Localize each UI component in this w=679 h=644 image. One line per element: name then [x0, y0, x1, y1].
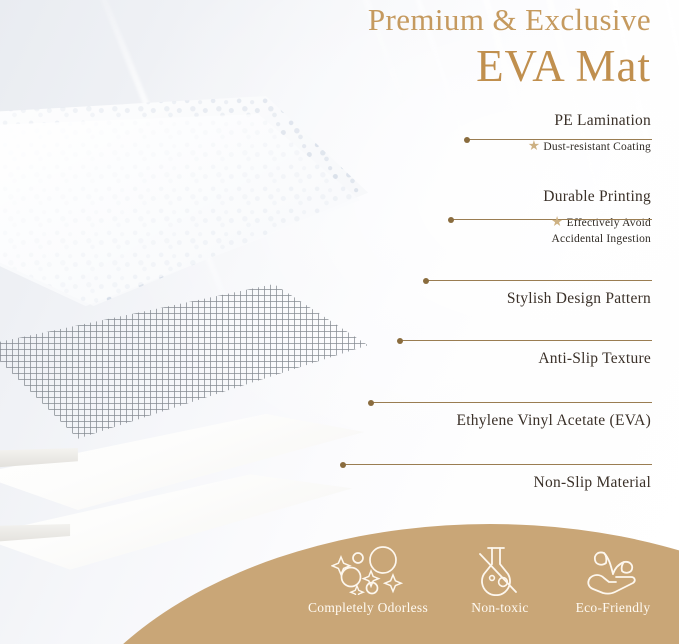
feature-connector-line — [370, 402, 652, 403]
feature-connector-dot — [423, 278, 429, 284]
feature-connector-line — [342, 464, 652, 465]
feature-row: Anti-Slip Texture — [0, 322, 679, 384]
feature-connector-line — [399, 340, 652, 341]
benefit-caption: Eco-Friendly — [546, 600, 679, 616]
benefit-caption: Completely Odorless — [288, 600, 448, 616]
hand-sprout-icon — [546, 544, 679, 596]
feature-label: Stylish Design Pattern — [0, 266, 679, 308]
benefit-caption: Non-toxic — [436, 600, 564, 616]
feature-list: PE Lamination Dust-resistant Coating Dur… — [0, 112, 679, 508]
feature-label: Non-Slip Material — [0, 446, 679, 492]
bubbles-sparkle-icon — [288, 544, 448, 596]
star-icon — [528, 140, 539, 151]
feature-connector-dot — [368, 400, 374, 406]
feature-connector-dot — [397, 338, 403, 344]
feature-row: Non-Slip Material — [0, 446, 679, 508]
headline-kicker: Premium & Exclusive — [221, 2, 651, 39]
feature-row: Durable Printing Effectively Avoid Accid… — [0, 174, 679, 266]
feature-label: Ethylene Vinyl Acetate (EVA) — [0, 384, 679, 430]
feature-subtext-line: Dust-resistant Coating — [543, 141, 651, 153]
benefit-item-eco-friendly: Eco-Friendly — [546, 544, 679, 616]
feature-label: Anti-Slip Texture — [0, 322, 679, 368]
feature-subtext-line: Accidental Ingestion — [552, 233, 651, 245]
feature-subtext: Dust-resistant Coating — [0, 130, 679, 155]
headline-block: Premium & Exclusive EVA Mat — [221, 2, 651, 91]
benefit-item-non-toxic: Non-toxic — [436, 544, 564, 616]
feature-label: PE Lamination — [0, 112, 679, 130]
headline-title: EVA Mat — [221, 41, 651, 91]
feature-connector-line — [450, 219, 652, 220]
feature-connector-dot — [448, 217, 454, 223]
feature-connector-dot — [464, 137, 470, 143]
benefits-row: Completely Odorless Non-toxic — [0, 544, 679, 644]
feature-connector-dot — [340, 462, 346, 468]
feature-connector-line — [466, 139, 652, 140]
feature-row: Stylish Design Pattern — [0, 266, 679, 322]
feature-row: PE Lamination Dust-resistant Coating — [0, 112, 679, 174]
benefit-item-odorless: Completely Odorless — [288, 544, 448, 616]
feature-subtext: Accidental Ingestion — [0, 231, 679, 247]
star-icon — [552, 216, 563, 227]
feature-row: Ethylene Vinyl Acetate (EVA) — [0, 384, 679, 446]
feature-connector-line — [425, 280, 652, 281]
no-toxic-flask-icon — [436, 544, 564, 596]
feature-label: Durable Printing — [0, 174, 679, 206]
product-infographic: Premium & Exclusive EVA Mat PE Laminatio… — [0, 0, 679, 644]
